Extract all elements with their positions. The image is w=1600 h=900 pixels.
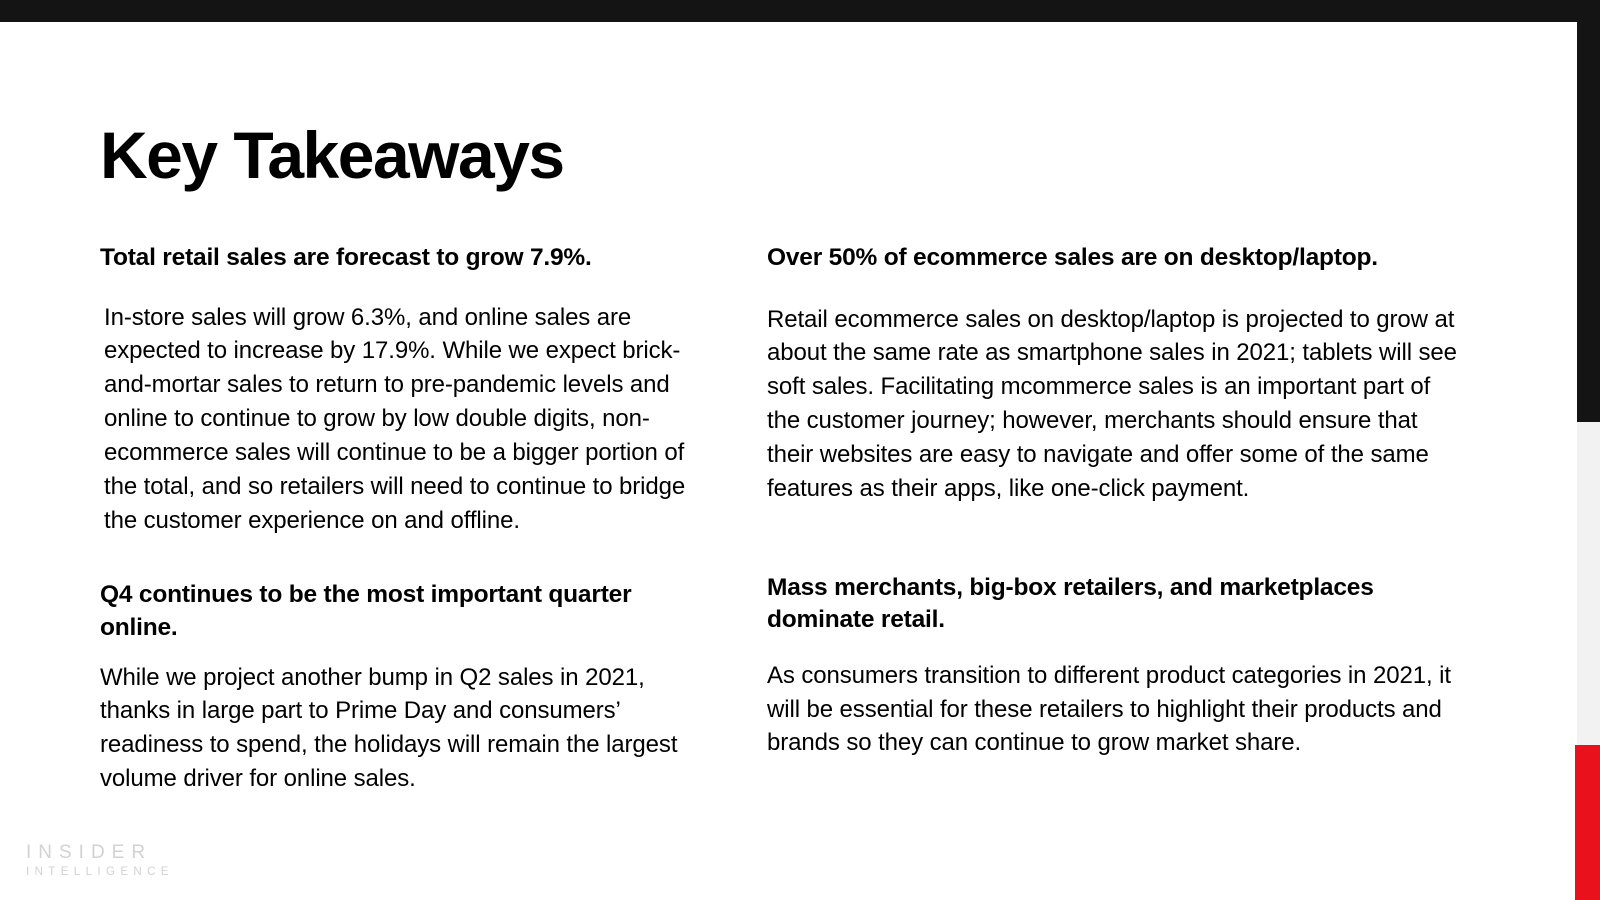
logo-line-insider: INSIDER [26, 843, 174, 864]
takeaway-heading: Q4 continues to be the most important qu… [100, 579, 712, 644]
logo-line-intelligence: INTELLIGENCE [26, 866, 174, 880]
right-gray-decorative-panel [1577, 422, 1600, 745]
right-red-decorative-bar [1575, 745, 1600, 900]
right-dark-decorative-bar [1577, 22, 1600, 422]
takeaway-body: As consumers transition to different pro… [767, 659, 1467, 760]
right-column: Over 50% of ecommerce sales are on deskt… [767, 242, 1467, 760]
top-decorative-bar [0, 0, 1600, 22]
left-column: Total retail sales are forecast to grow … [100, 242, 712, 796]
takeaway-heading: Mass merchants, big-box retailers, and m… [767, 572, 1467, 637]
takeaway-total-retail-sales: Total retail sales are forecast to grow … [100, 242, 712, 537]
takeaway-body: While we project another bump in Q2 sale… [100, 661, 712, 796]
page-title: Key Takeaways [100, 122, 564, 188]
takeaway-body: Retail ecommerce sales on desktop/laptop… [767, 303, 1467, 506]
takeaway-body: In-store sales will grow 6.3%, and onlin… [100, 301, 712, 538]
insider-intelligence-logo: INSIDER INTELLIGENCE [26, 843, 174, 880]
slide-content: Key Takeaways Total retail sales are for… [0, 22, 1577, 900]
takeaway-q4-quarter: Q4 continues to be the most important qu… [100, 579, 712, 795]
takeaway-heading: Total retail sales are forecast to grow … [100, 242, 712, 275]
takeaway-desktop-laptop-share: Over 50% of ecommerce sales are on deskt… [767, 242, 1467, 506]
takeaway-heading: Over 50% of ecommerce sales are on deskt… [767, 242, 1467, 275]
takeaway-mass-merchants: Mass merchants, big-box retailers, and m… [767, 572, 1467, 761]
slide: Key Takeaways Total retail sales are for… [0, 0, 1600, 900]
